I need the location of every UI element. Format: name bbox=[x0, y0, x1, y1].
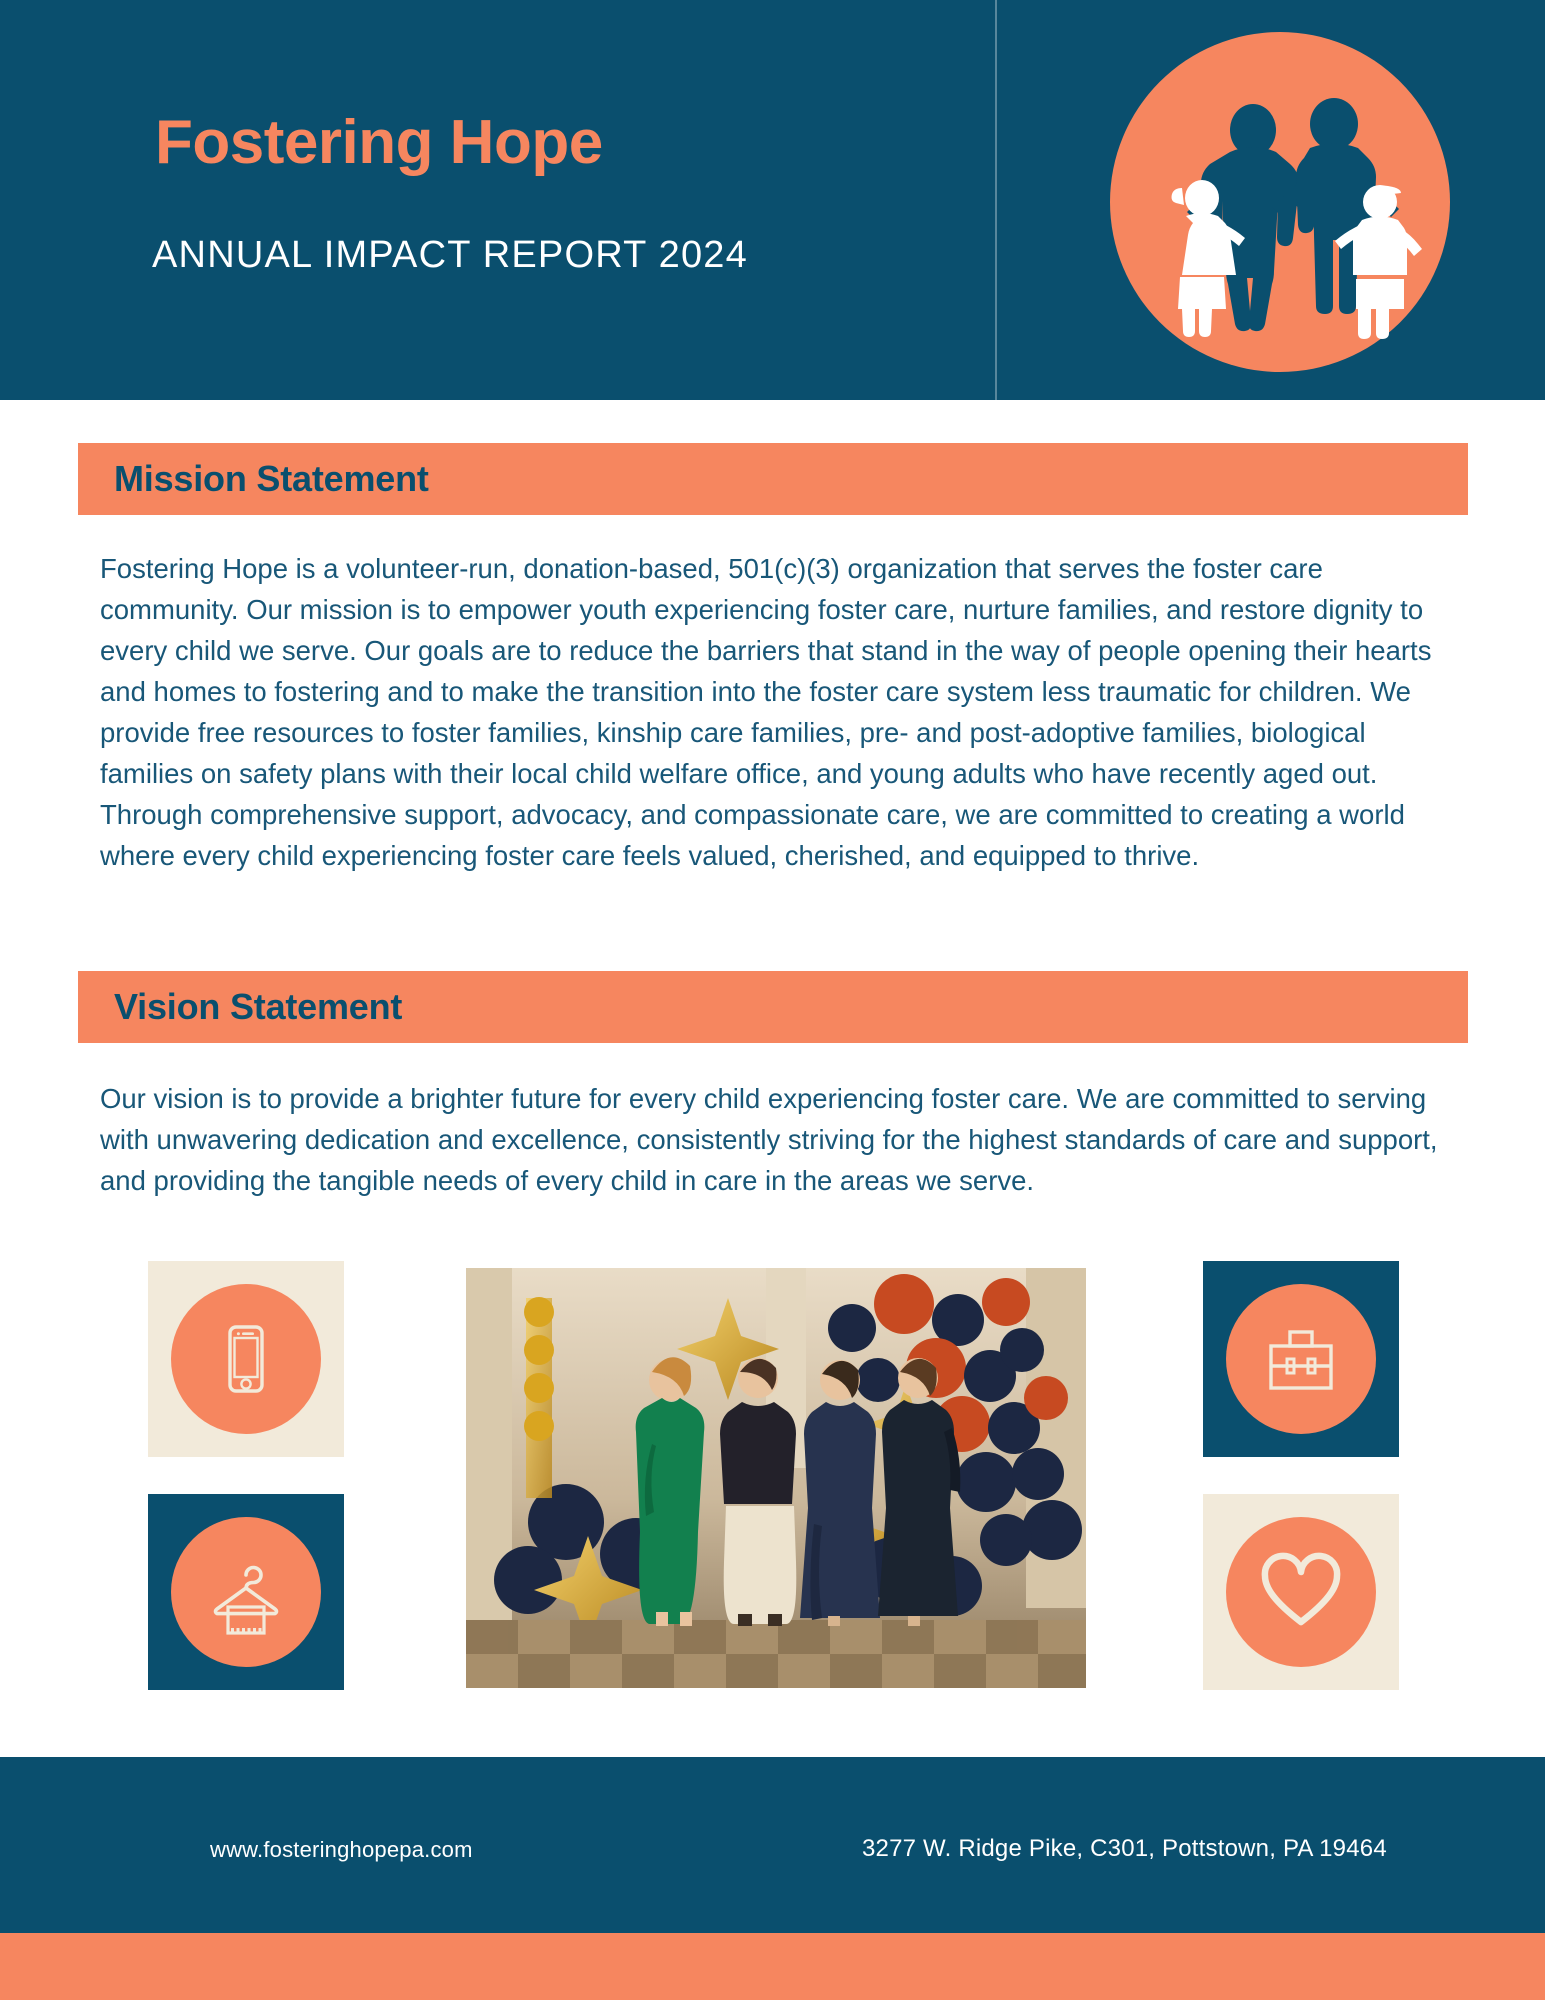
icon-circle bbox=[171, 1284, 321, 1434]
organization-title: Fostering Hope bbox=[155, 112, 603, 174]
icon-tile-briefcase bbox=[1203, 1261, 1399, 1457]
organization-logo bbox=[1110, 32, 1450, 372]
icon-tile-heart bbox=[1203, 1494, 1399, 1690]
smartphone-icon bbox=[207, 1320, 285, 1398]
clothes-hanger-icon bbox=[203, 1549, 289, 1635]
mission-heading: Mission Statement bbox=[114, 458, 429, 500]
gala-group-photo bbox=[466, 1268, 1086, 1688]
footer-accent-bar bbox=[0, 1933, 1545, 2000]
mission-body-text: Fostering Hope is a volunteer-run, donat… bbox=[100, 548, 1460, 876]
mission-section-bar: Mission Statement bbox=[78, 443, 1468, 515]
footer-address: 3277 W. Ridge Pike, C301, Pottstown, PA … bbox=[862, 1835, 1387, 1863]
briefcase-icon bbox=[1258, 1316, 1344, 1402]
header-divider bbox=[995, 0, 997, 400]
vision-body-text: Our vision is to provide a brighter futu… bbox=[100, 1078, 1460, 1201]
heart-icon bbox=[1257, 1548, 1345, 1636]
icon-circle bbox=[1226, 1284, 1376, 1434]
icon-circle bbox=[1226, 1517, 1376, 1667]
icon-circle bbox=[171, 1517, 321, 1667]
family-silhouette-icon bbox=[1110, 32, 1450, 372]
icon-tile-smartphone bbox=[148, 1261, 344, 1457]
footer-website[interactable]: www.fosteringhopepa.com bbox=[210, 1837, 473, 1863]
icon-tile-clothes-hanger bbox=[148, 1494, 344, 1690]
vision-section-bar: Vision Statement bbox=[78, 971, 1468, 1043]
vision-heading: Vision Statement bbox=[114, 986, 402, 1028]
report-subtitle: ANNUAL IMPACT REPORT 2024 bbox=[152, 236, 748, 274]
